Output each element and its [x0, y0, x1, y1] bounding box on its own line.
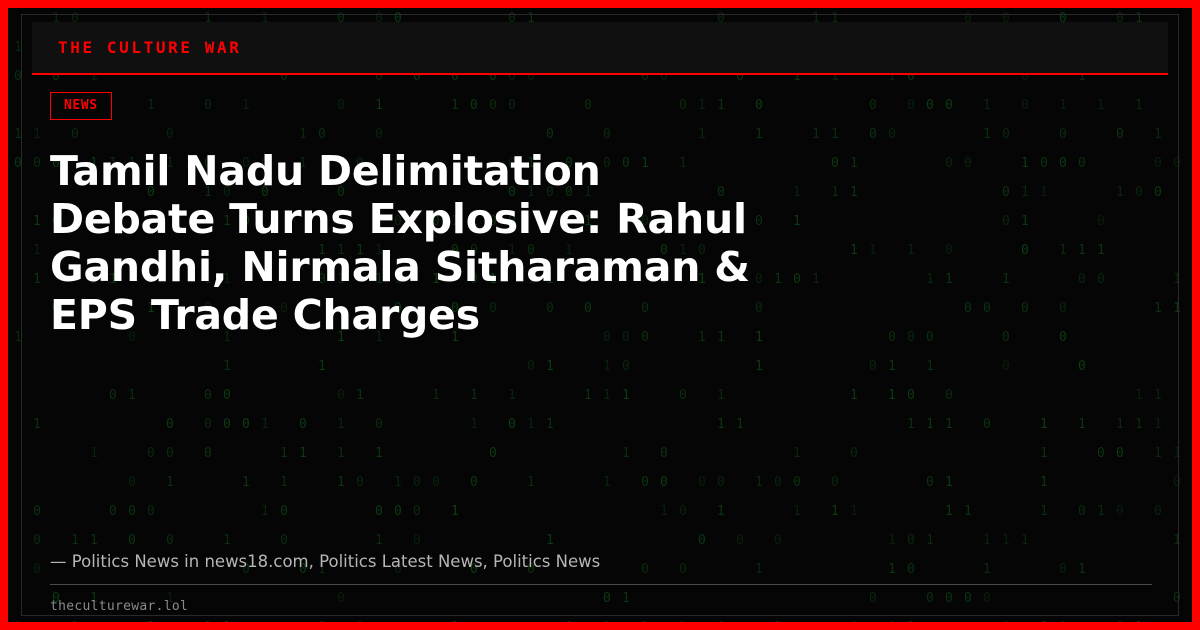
site-title: THE CULTURE WAR [58, 38, 242, 57]
svg-text:0: 0 [1192, 127, 1200, 142]
svg-text:0: 0 [1192, 156, 1200, 171]
svg-text:0: 0 [1192, 504, 1200, 519]
category-badge[interactable]: NEWS [50, 92, 112, 120]
source-attribution: — Politics News in news18.com, Politics … [50, 552, 1152, 584]
card-content: THE CULTURE WAR NEWS Tamil Nadu Delimita… [8, 8, 1192, 622]
svg-text:1: 1 [1192, 620, 1200, 630]
footer-domain: theculturewar.lol [50, 599, 188, 614]
svg-text:0: 0 [1192, 272, 1200, 287]
article-block: NEWS Tamil Nadu Delimitation Debate Turn… [8, 75, 1192, 584]
layout-spacer [50, 339, 1152, 552]
site-footer: theculturewar.lol [50, 584, 1152, 622]
site-header: THE CULTURE WAR [32, 22, 1168, 75]
svg-text:0: 0 [1192, 359, 1200, 374]
news-card: 1011000010110000110001111100011010001001… [0, 0, 1200, 630]
headline: Tamil Nadu Delimitation Debate Turns Exp… [50, 147, 750, 339]
svg-text:1: 1 [1192, 69, 1200, 84]
